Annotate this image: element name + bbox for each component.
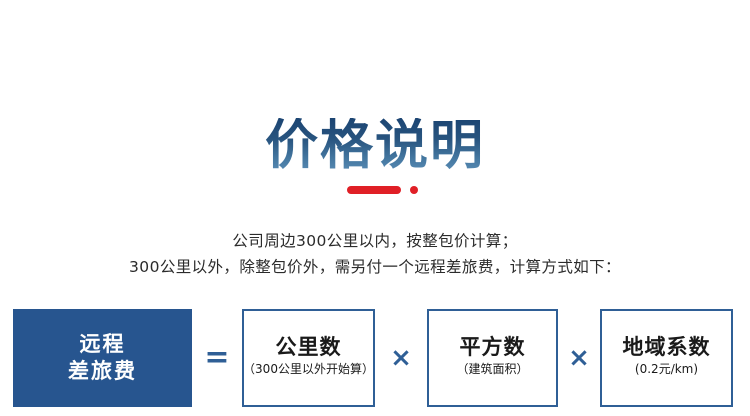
term-subtitle: (0.2元/km) [635, 361, 698, 378]
term-subtitle: （300公里以外开始算） [243, 361, 374, 378]
formula-term-kilometers: 公里数 （300公里以外开始算） [242, 309, 375, 407]
divider-dot-icon [410, 186, 418, 194]
page-title: 价格说明 [265, 118, 485, 174]
formula-term-square-meters: 平方数 （建筑面积） [427, 309, 558, 407]
equals-sign-icon: = [192, 309, 242, 407]
price-explanation-page: 价格说明 公司周边300公里以内，按整包价计算； 300公里以外，除整包价外，需… [0, 0, 750, 416]
description-line-2: 300公里以外，除整包价外，需另付一个远程差旅费，计算方式如下： [0, 254, 750, 280]
description-block: 公司周边300公里以内，按整包价计算； 300公里以外，除整包价外，需另付一个远… [0, 228, 750, 280]
term-title: 公里数 [276, 334, 342, 360]
divider-bar-icon [347, 186, 401, 194]
formula-result-line-2: 差旅费 [68, 358, 137, 385]
formula-result-box: 远程 差旅费 [13, 309, 192, 407]
term-subtitle: （建筑面积） [456, 361, 528, 378]
term-title: 平方数 [460, 334, 526, 360]
formula-row: 远程 差旅费 = 公里数 （300公里以外开始算） × 平方数 （建筑面积） ×… [13, 309, 735, 407]
formula-result-line-1: 远程 [80, 331, 126, 358]
multiply-sign-icon-1: × [375, 309, 427, 407]
formula-term-region-coefficient: 地域系数 (0.2元/km) [600, 309, 733, 407]
term-title: 地域系数 [623, 334, 711, 360]
title-divider [0, 185, 750, 195]
description-line-1: 公司周边300公里以内，按整包价计算； [0, 228, 750, 254]
multiply-sign-icon-2: × [558, 309, 600, 407]
